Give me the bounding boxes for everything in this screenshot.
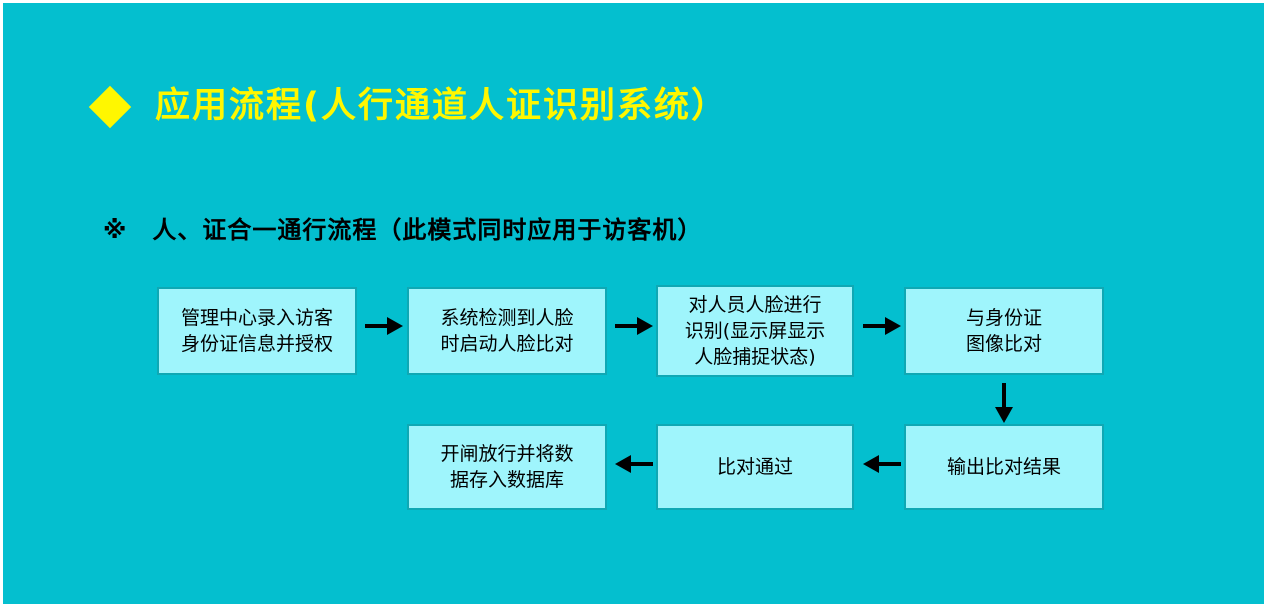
reference-mark-icon: ※ bbox=[103, 218, 126, 242]
arrow-down-icon bbox=[991, 383, 1017, 423]
page-title: 应用流程(人行通道人证识别系统） bbox=[95, 89, 728, 124]
flow-box-label: 与身份证 图像比对 bbox=[960, 305, 1048, 357]
section-subtitle: ※ 人、证合一通行流程（此模式同时应用于访客机） bbox=[103, 218, 702, 242]
slide-canvas: 应用流程(人行通道人证识别系统） ※ 人、证合一通行流程（此模式同时应用于访客机… bbox=[3, 3, 1264, 604]
flow-box-label: 系统检测到人脸 时启动人脸比对 bbox=[434, 305, 579, 357]
flow-box-output-comparison-result: 输出比对结果 bbox=[904, 424, 1104, 510]
flow-box-label: 输出比对结果 bbox=[941, 454, 1067, 480]
page-title-text: 应用流程(人行通道人证识别系统） bbox=[155, 89, 728, 124]
flow-box-label: 比对通过 bbox=[711, 454, 799, 480]
section-subtitle-text: 人、证合一通行流程（此模式同时应用于访客机） bbox=[152, 218, 702, 242]
flow-box-face-recognition-display: 对人员人脸进行 识别(显示屏显示 人脸捕捉状态) bbox=[656, 285, 854, 377]
flow-box-label: 对人员人脸进行 识别(显示屏显示 人脸捕捉状态) bbox=[679, 292, 831, 371]
flow-box-compare-with-id-image: 与身份证 图像比对 bbox=[904, 287, 1104, 375]
flow-box-detect-face-start-compare: 系统检测到人脸 时启动人脸比对 bbox=[407, 287, 607, 375]
arrow-right-icon bbox=[365, 313, 403, 339]
flow-box-comparison-passed: 比对通过 bbox=[656, 424, 854, 510]
flow-box-open-gate-store-data: 开闸放行并将数 据存入数据库 bbox=[407, 424, 607, 510]
flow-box-enroll-visitor-id: 管理中心录入访客 身份证信息并授权 bbox=[157, 287, 357, 375]
flow-box-label: 开闸放行并将数 据存入数据库 bbox=[434, 441, 579, 493]
arrow-left-icon bbox=[863, 451, 901, 477]
diamond-bullet-icon bbox=[89, 85, 131, 127]
arrow-right-icon bbox=[863, 313, 901, 339]
arrow-left-icon bbox=[615, 451, 653, 477]
arrow-right-icon bbox=[615, 313, 653, 339]
flow-box-label: 管理中心录入访客 身份证信息并授权 bbox=[175, 305, 339, 357]
